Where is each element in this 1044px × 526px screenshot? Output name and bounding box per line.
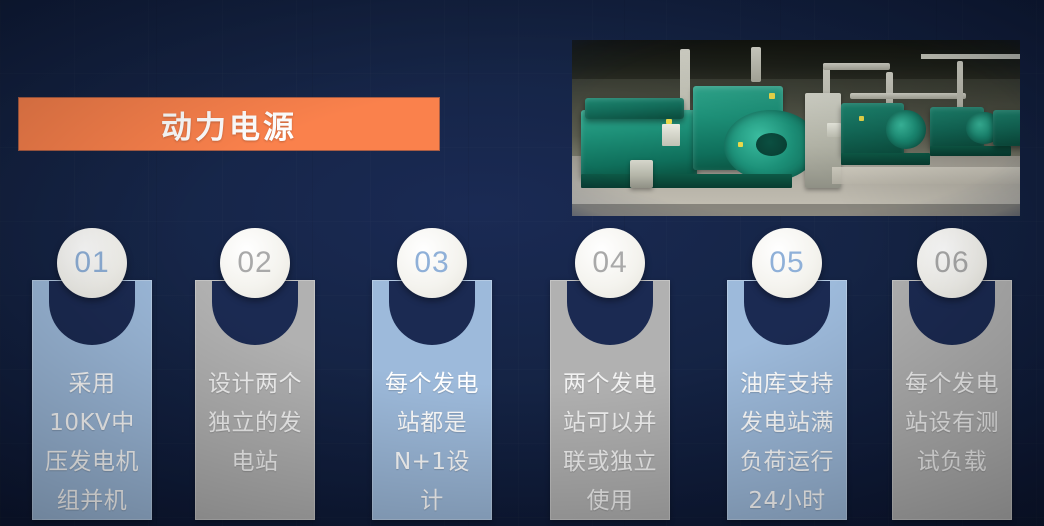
step-badge-1[interactable]: 01: [57, 228, 127, 298]
step-badge-6-number: 06: [934, 246, 969, 280]
step-badge-4[interactable]: 04: [575, 228, 645, 298]
steps-row: 采用 10KV中 压发电机 组并机 01 设计两个 独立的发 电站 02 每个发…: [32, 228, 1012, 496]
step-card-2[interactable]: 设计两个 独立的发 电站: [195, 280, 315, 520]
photo-image: [572, 40, 1020, 216]
step-badge-6[interactable]: 06: [917, 228, 987, 298]
step-badge-2-number: 02: [237, 246, 272, 280]
step-badge-5[interactable]: 05: [752, 228, 822, 298]
step-card-6-text: 每个发电 站设有测 试负载: [897, 365, 1007, 482]
step-badge-5-number: 05: [769, 246, 804, 280]
page-title: 动力电源: [161, 102, 297, 147]
step-card-3[interactable]: 每个发电 站都是 N+1设 计: [372, 280, 492, 520]
step-card-5-text: 油库支持 发电站满 负荷运行 24小时: [732, 365, 842, 520]
step-card-1-text: 采用 10KV中 压发电机 组并机: [37, 365, 147, 520]
title-banner: 动力电源: [18, 97, 440, 151]
step-card-6[interactable]: 每个发电 站设有测 试负载: [892, 280, 1012, 520]
step-badge-2[interactable]: 02: [220, 228, 290, 298]
step-card-2-text: 设计两个 独立的发 电站: [200, 365, 310, 482]
step-card-5[interactable]: 油库支持 发电站满 负荷运行 24小时: [727, 280, 847, 520]
slide-canvas: 动力电源: [0, 0, 1044, 526]
step-card-4[interactable]: 两个发电 站可以并 联或独立 使用: [550, 280, 670, 520]
step-badge-1-number: 01: [74, 246, 109, 280]
step-card-3-text: 每个发电 站都是 N+1设 计: [377, 365, 487, 520]
step-badge-3[interactable]: 03: [397, 228, 467, 298]
generator-hall-photo: [572, 40, 1020, 216]
step-card-4-text: 两个发电 站可以并 联或独立 使用: [555, 365, 665, 520]
step-badge-3-number: 03: [414, 246, 449, 280]
step-card-1[interactable]: 采用 10KV中 压发电机 组并机: [32, 280, 152, 520]
step-badge-4-number: 04: [592, 246, 627, 280]
